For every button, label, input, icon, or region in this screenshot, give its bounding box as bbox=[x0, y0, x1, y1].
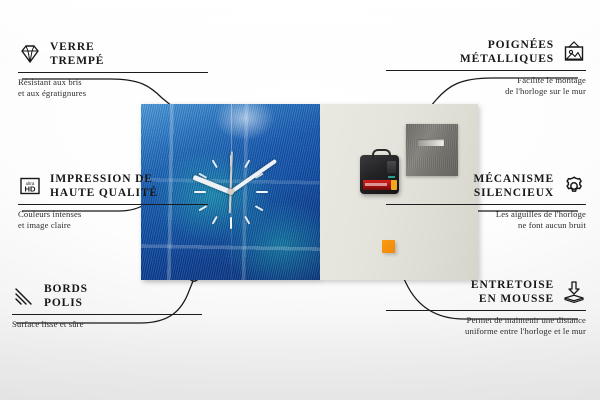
clock-minute-hand bbox=[229, 159, 276, 194]
callout-impression-haute-qualite[interactable]: ultra HD IMPRESSION DE HAUTE QUALITÉ Cou… bbox=[18, 172, 208, 230]
callout-header: POIGNÉES MÉTALLIQUES bbox=[386, 38, 586, 66]
hanger-slot bbox=[418, 139, 444, 146]
callout-bords-polis[interactable]: BORDS POLIS Surface lisse et sûre bbox=[12, 282, 202, 330]
callout-subtitle-line2: de l'horloge sur le mur bbox=[386, 86, 586, 97]
callout-header: VERRE TREMPÉ bbox=[18, 40, 208, 68]
callout-subtitle-line2: et image claire bbox=[18, 220, 208, 231]
infographic-canvas: VERRE TREMPÉ Résistant aux bris et aux é… bbox=[0, 0, 600, 400]
diamond-icon bbox=[18, 42, 42, 66]
callout-subtitle-line1: Couleurs intenses bbox=[18, 209, 208, 220]
callout-subtitle-line1: Facilite le montage bbox=[386, 75, 586, 86]
gear-icon bbox=[562, 174, 586, 198]
callout-divider bbox=[18, 72, 208, 73]
callout-title: MÉCANISME SILENCIEUX bbox=[474, 172, 555, 200]
callout-divider bbox=[386, 70, 586, 71]
callout-title: ENTRETOISE EN MOUSSE bbox=[471, 278, 554, 306]
callout-title: IMPRESSION DE HAUTE QUALITÉ bbox=[50, 172, 158, 200]
callout-title: BORDS POLIS bbox=[44, 282, 88, 310]
hanging-picture-frame-icon bbox=[562, 40, 586, 64]
callout-header: BORDS POLIS bbox=[12, 282, 202, 310]
callout-subtitle-line1: Résistant aux bris bbox=[18, 77, 208, 88]
callout-header: MÉCANISME SILENCIEUX bbox=[386, 172, 586, 200]
callout-title: VERRE TREMPÉ bbox=[50, 40, 104, 68]
callout-divider bbox=[12, 314, 202, 315]
mechanism-hanging-loop bbox=[372, 149, 391, 160]
ultra-hd-badge-icon: ultra HD bbox=[18, 174, 42, 198]
callout-divider bbox=[18, 204, 208, 205]
callout-title: POIGNÉES MÉTALLIQUES bbox=[460, 38, 554, 66]
callout-header: ENTRETOISE EN MOUSSE bbox=[386, 278, 586, 306]
clock-center-cap bbox=[228, 189, 234, 195]
callout-subtitle-line2: ne font aucun bruit bbox=[386, 220, 586, 231]
callout-subtitle-line2: et aux égratignures bbox=[18, 88, 208, 99]
callout-subtitle-line1: Surface lisse et sûre bbox=[12, 319, 202, 330]
foam-spacer bbox=[382, 240, 395, 253]
callout-entretoise-en-mousse[interactable]: ENTRETOISE EN MOUSSE Permet de maintenir… bbox=[386, 278, 586, 336]
callout-divider bbox=[386, 310, 586, 311]
callout-subtitle-line2: uniforme entre l'horloge et le mur bbox=[386, 326, 586, 337]
metal-hanger-plate bbox=[406, 124, 458, 176]
battery-label bbox=[365, 183, 387, 186]
callout-poignees-metalliques[interactable]: POIGNÉES MÉTALLIQUES Facilite le montage… bbox=[386, 38, 586, 96]
callout-header: ultra HD IMPRESSION DE HAUTE QUALITÉ bbox=[18, 172, 208, 200]
callout-subtitle-line1: Les aiguilles de l'horloge bbox=[386, 209, 586, 220]
callout-verre-trempe[interactable]: VERRE TREMPÉ Résistant aux bris et aux é… bbox=[18, 40, 208, 98]
callout-divider bbox=[386, 204, 586, 205]
svg-text:HD: HD bbox=[25, 185, 36, 194]
press-down-arrow-pad-icon bbox=[562, 280, 586, 304]
polished-edge-lines-icon bbox=[12, 284, 36, 308]
callout-mecanisme-silencieux[interactable]: MÉCANISME SILENCIEUX Les aiguilles de l'… bbox=[386, 172, 586, 230]
callout-subtitle-line1: Permet de maintenir une distance bbox=[386, 315, 586, 326]
